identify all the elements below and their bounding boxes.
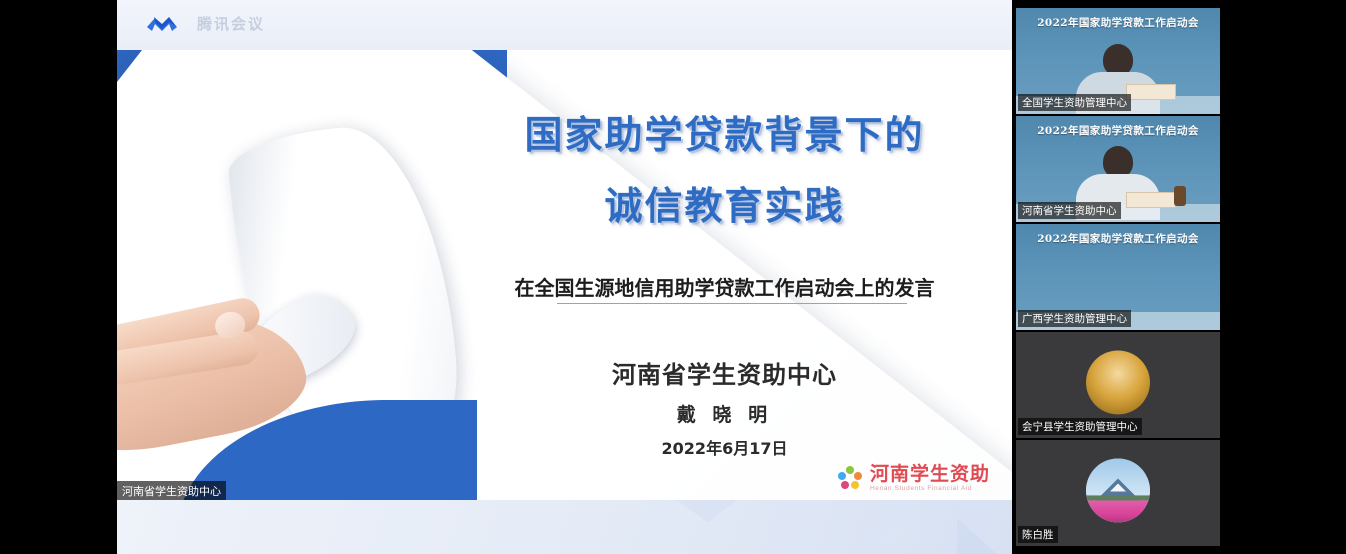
slide-subtitle-underline [557,303,907,304]
cup [1174,186,1186,206]
avatar [1086,350,1150,414]
logo-chinese-text: 河南学生资助 [870,465,990,484]
avatar-landscape-image [1086,458,1150,522]
shared-screen-presenter-label: 河南省学生资助中心 [117,481,226,500]
letterbox-left [0,0,117,554]
decor-triangle [957,518,997,554]
logo-wordmark: 河南学生资助 Henan Students Financial Aid [870,465,990,493]
slide-speaker-name: 戴 晓 明 [437,400,1012,427]
room-banner-text: 2022年国家助学贷款工作启动会 [1016,123,1220,138]
avatar-cartoon-image [1086,350,1150,414]
participant-name-label: 河南省学生资助中心 [1018,202,1121,219]
participant-tile[interactable]: 2022年国家助学贷款工作启动会 全国学生资助管理中心 [1016,8,1220,114]
participant-name-label: 会宁县学生资助管理中心 [1018,418,1142,435]
slide-title-line-2: 诚信教育实践 [437,175,1012,230]
slide-title-line-1: 国家助学贷款背景下的 [437,104,1012,159]
participant-name-label: 全国学生资助管理中心 [1018,94,1131,111]
shared-screen-area[interactable]: 腾讯会议 国家助学贷款背景下的 诚信教育实践 在全国生源地信用助学贷款工作启动会… [117,0,1012,554]
flower-field [1086,501,1150,523]
decor-triangle [677,500,737,522]
desk-nameplate [1126,84,1176,100]
tencent-meeting-brand-text: 腾讯会议 [197,13,265,34]
logo-english-text: Henan Students Financial Aid [870,486,990,493]
presentation-slide: 国家助学贷款背景下的 诚信教育实践 在全国生源地信用助学贷款工作启动会上的发言 … [117,50,1012,500]
slide-text-block: 国家助学贷款背景下的 诚信教育实践 在全国生源地信用助学贷款工作启动会上的发言 … [437,50,1012,500]
participant-tile[interactable]: 2022年国家助学贷款工作启动会 广西学生资助管理中心 [1016,224,1220,330]
room-banner-text: 2022年国家助学贷款工作启动会 [1016,15,1220,30]
henan-financial-aid-logo: 河南学生资助 Henan Students Financial Aid [837,465,990,493]
participant-tile-active-speaker[interactable]: 2022年国家助学贷款工作启动会 河南省学生资助中心 [1016,116,1220,222]
room-banner-text: 2022年国家助学贷款工作启动会 [1016,231,1220,246]
participant-name-label: 广西学生资助管理中心 [1018,310,1131,327]
participant-name-label: 陈白胜 [1018,526,1058,543]
desk-nameplate [1126,192,1176,208]
slide-date: 2022年6月17日 [437,435,1012,459]
flower-icon [837,465,863,491]
slide-organization: 河南省学生资助中心 [437,355,1012,390]
avatar [1086,458,1150,522]
participant-tile[interactable]: 会宁县学生资助管理中心 [1016,332,1220,438]
tencent-meeting-logo-icon [145,12,189,34]
meeting-top-bar: 腾讯会议 [117,0,1012,50]
slide-subtitle: 在全国生源地信用助学贷款工作启动会上的发言 [432,272,1012,301]
meeting-window: 腾讯会议 国家助学贷款背景下的 诚信教育实践 在全国生源地信用助学贷款工作启动会… [0,0,1346,554]
decor-triangle [877,506,921,546]
tencent-meeting-brand: 腾讯会议 [145,12,265,34]
stage-bottom-band [117,500,1012,554]
letterbox-right [1226,0,1346,554]
participant-tile[interactable]: 陈白胜 [1016,440,1220,546]
participant-thumbnail-strip[interactable]: 2022年国家助学贷款工作启动会 全国学生资助管理中心 2022年国家助学贷款工… [1016,8,1220,548]
mountain-snowcap [1110,484,1126,492]
